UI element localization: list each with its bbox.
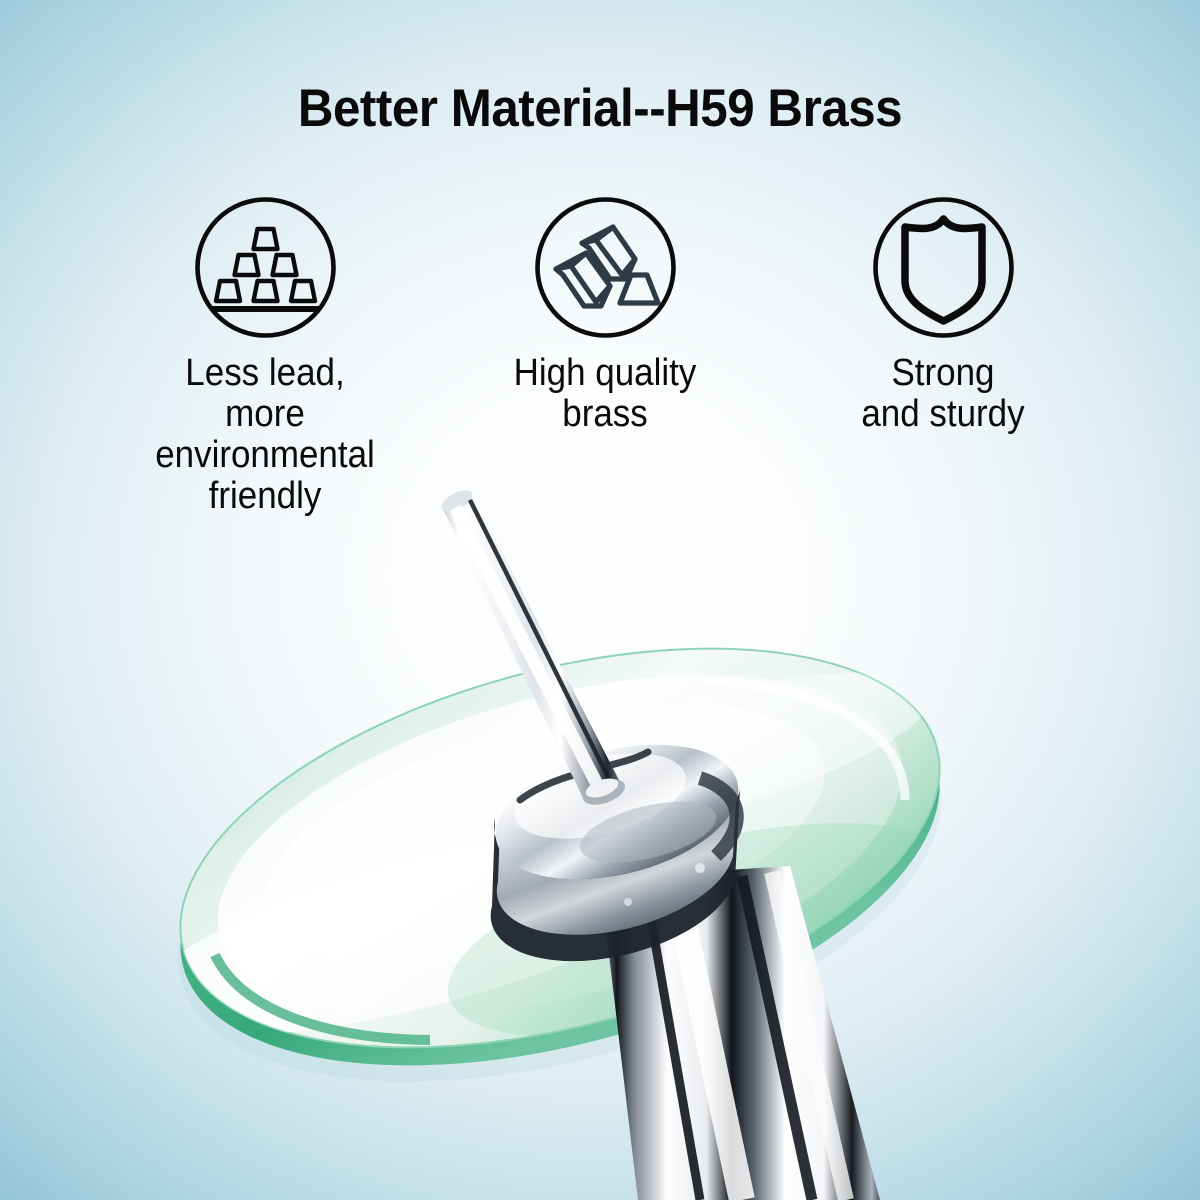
chrome-cap (482, 722, 753, 961)
product-infographic: Better Material--H59 Brass (0, 0, 1200, 1200)
feature-caption: Less lead, more environmental friendly (127, 353, 403, 517)
glass-disc-shadow (135, 605, 985, 1156)
brass-ingots-icon (534, 196, 677, 339)
chrome-lever-handle (438, 486, 648, 810)
feature-row: Less lead, more environmental friendly (0, 196, 1200, 526)
feature-caption: High quality brass (467, 353, 743, 435)
feature-item-high-quality: High quality brass (455, 196, 755, 435)
stacked-gold-bars-icon (194, 196, 337, 339)
feature-caption: Strong and sturdy (805, 353, 1081, 435)
glass-disc (121, 575, 983, 1139)
shield-icon (872, 196, 1015, 339)
page-title: Better Material--H59 Brass (42, 78, 1158, 139)
feature-item-less-lead: Less lead, more environmental friendly (115, 196, 415, 517)
feature-item-strong-sturdy: Strong and sturdy (793, 196, 1093, 435)
product-photo (0, 0, 1200, 1200)
chrome-body (600, 866, 880, 1200)
